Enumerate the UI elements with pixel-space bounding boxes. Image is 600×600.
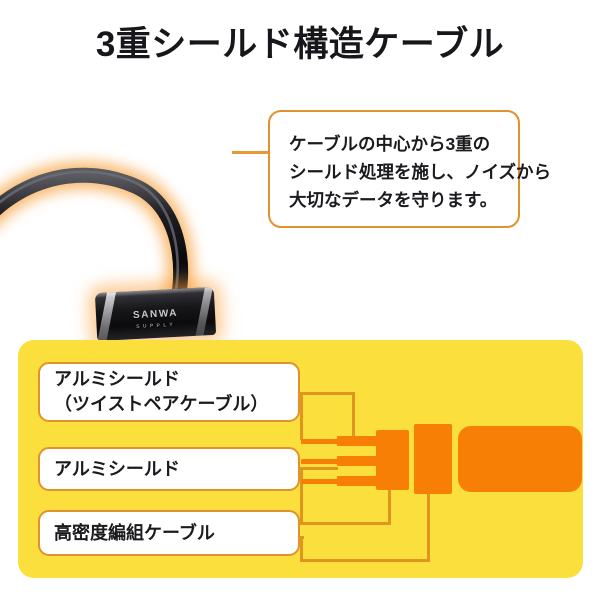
twisted-pair-wire-3-lead xyxy=(301,479,339,484)
label-3-line-1: 高密度編組ケーブル xyxy=(54,521,215,546)
aluminum-shield-layer-inner xyxy=(376,430,409,490)
route-label1-horizontal xyxy=(300,392,355,395)
product-photo: SANWA SUPPLY xyxy=(0,82,270,357)
route-label3-bottom xyxy=(300,559,430,562)
twisted-pair-wire-2-lead xyxy=(301,459,339,464)
cable-connector: SANWA SUPPLY xyxy=(95,287,216,341)
callout-line-3: 大切なデータを守ります。 xyxy=(289,186,551,214)
route-label2-bottom xyxy=(300,522,391,525)
route-label1-vertical xyxy=(300,392,303,440)
route-label2-up-to-shield xyxy=(388,488,391,525)
label-1-line-1: アルミシールド xyxy=(54,367,268,392)
twisted-pair-wire-1-lead xyxy=(301,439,339,444)
route-label3-up-to-shield xyxy=(427,490,430,562)
page-title: 3重シールド構造ケーブル xyxy=(0,22,600,68)
aluminum-shield-layer-outer xyxy=(414,424,452,494)
callout-line-2: シールド処理を施し、ノイズから xyxy=(289,158,551,186)
route-label2-horizontal xyxy=(300,467,338,470)
twisted-pair-wire-1 xyxy=(337,436,379,446)
callout-box: ケーブルの中心から3重の シールド処理を施し、ノイズから 大切なデータを守ります… xyxy=(268,110,520,228)
callout-text: ケーブルの中心から3重の シールド処理を施し、ノイズから 大切なデータを守ります… xyxy=(289,130,551,214)
callout-line-1: ケーブルの中心から3重の xyxy=(289,130,551,158)
label-3-text: 高密度編組ケーブル xyxy=(54,521,215,546)
label-2-text: アルミシールド xyxy=(54,457,180,482)
twisted-pair-wire-2 xyxy=(337,456,379,466)
route-label2-down xyxy=(300,467,303,525)
cable-outer-jacket xyxy=(458,426,582,492)
cable-structure-panel: アルミシールド （ツイストペアケーブル） アルミシールド 高密度編組ケーブル xyxy=(18,340,583,578)
label-2-line-1: アルミシールド xyxy=(54,457,180,482)
label-box-high-density-braided-cable: 高密度編組ケーブル xyxy=(38,510,300,556)
twisted-pair-wire-3 xyxy=(337,476,379,486)
infographic-root: 3重シールド構造ケーブル xyxy=(0,0,600,600)
route-label1-down-to-wire xyxy=(352,392,355,438)
label-1-line-2: （ツイストペアケーブル） xyxy=(54,392,268,417)
label-1-text: アルミシールド （ツイストペアケーブル） xyxy=(54,367,268,417)
label-box-aluminum-shield: アルミシールド xyxy=(38,447,300,491)
label-box-aluminum-shield-twisted-pair: アルミシールド （ツイストペアケーブル） xyxy=(38,362,300,422)
